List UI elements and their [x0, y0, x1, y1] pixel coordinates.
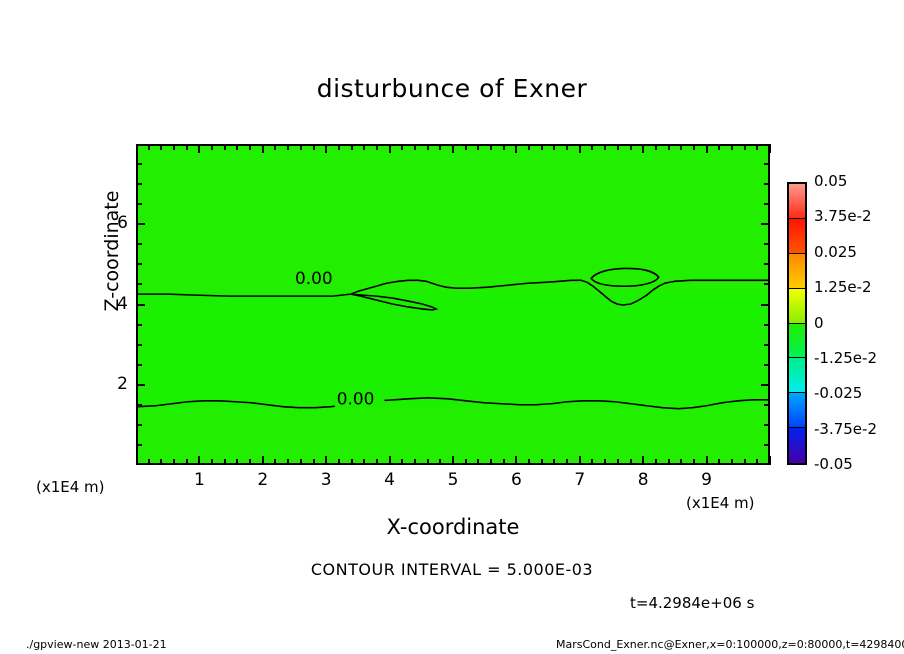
x-minor-tick-top — [591, 144, 593, 150]
colorbar-tick-label: 0.05 — [814, 172, 847, 190]
x-major-tick — [769, 456, 771, 465]
x-minor-tick-top — [528, 144, 530, 150]
x-minor-tick-top — [439, 144, 441, 150]
x-minor-tick-top — [630, 144, 632, 150]
y-minor-tick-right — [764, 364, 770, 366]
y-minor-tick-right — [764, 243, 770, 245]
y-minor-tick — [136, 404, 142, 406]
x-minor-tick — [465, 459, 467, 465]
plot-area: 0.00 0.00 — [136, 144, 770, 465]
y-minor-tick — [136, 364, 142, 366]
x-minor-tick-top — [731, 144, 733, 150]
colorbar-tick-label: -3.75e-2 — [814, 420, 877, 438]
colorbar-band — [789, 219, 805, 254]
y-minor-tick-right — [764, 404, 770, 406]
y-minor-tick-right — [764, 183, 770, 185]
x-minor-tick-top — [401, 144, 403, 150]
x-tick-label: 4 — [375, 470, 405, 490]
x-minor-tick — [148, 459, 150, 465]
y-tick-label: 2 — [98, 374, 128, 394]
x-minor-tick — [287, 459, 289, 465]
x-minor-tick-top — [148, 144, 150, 150]
colorbar-tick-label: -0.025 — [814, 384, 862, 402]
x-minor-tick — [604, 459, 606, 465]
x-minor-tick — [363, 459, 365, 465]
x-minor-tick-top — [160, 144, 162, 150]
x-minor-tick-top — [566, 144, 568, 150]
y-major-tick — [136, 223, 145, 225]
x-tick-label: 2 — [248, 470, 278, 490]
x-minor-tick — [591, 459, 593, 465]
x-minor-tick-top — [756, 144, 758, 150]
x-unit-left: (x1E4 m) — [36, 478, 105, 496]
y-minor-tick — [136, 424, 142, 426]
x-major-tick-top — [769, 144, 771, 153]
y-minor-tick-right — [764, 344, 770, 346]
x-minor-tick — [630, 459, 632, 465]
x-minor-tick-top — [668, 144, 670, 150]
y-major-tick-right — [761, 304, 770, 306]
x-major-tick — [452, 456, 454, 465]
x-minor-tick-top — [224, 144, 226, 150]
x-minor-tick-top — [287, 144, 289, 150]
colorbar-band — [789, 184, 805, 219]
x-major-tick-top — [579, 144, 581, 153]
x-major-tick-top — [325, 144, 327, 153]
x-minor-tick — [376, 459, 378, 465]
x-minor-tick-top — [414, 144, 416, 150]
x-minor-tick — [477, 459, 479, 465]
x-tick-label: 7 — [565, 470, 595, 490]
x-minor-tick-top — [477, 144, 479, 150]
y-minor-tick-right — [764, 283, 770, 285]
x-major-tick — [389, 456, 391, 465]
x-minor-tick — [617, 459, 619, 465]
x-minor-tick — [528, 459, 530, 465]
x-minor-tick-top — [300, 144, 302, 150]
y-minor-tick-right — [764, 444, 770, 446]
x-minor-tick-top — [693, 144, 695, 150]
x-minor-tick — [236, 459, 238, 465]
x-minor-tick — [414, 459, 416, 465]
footer-command: ./gpview-new 2013-01-21 — [26, 638, 167, 651]
x-minor-tick — [173, 459, 175, 465]
y-minor-tick-right — [764, 163, 770, 165]
x-minor-tick — [668, 459, 670, 465]
x-major-tick — [515, 456, 517, 465]
x-minor-tick — [693, 459, 695, 465]
x-tick-label: 3 — [311, 470, 341, 490]
contour-label-lower: 0.00 — [337, 389, 375, 409]
colorbar-band — [789, 393, 805, 428]
y-minor-tick — [136, 263, 142, 265]
x-minor-tick — [566, 459, 568, 465]
y-minor-tick — [136, 163, 142, 165]
y-axis-label: Z-coordinate — [101, 131, 123, 371]
colorbar-tick-label: 0.025 — [814, 243, 857, 261]
x-minor-tick — [224, 459, 226, 465]
y-minor-tick — [136, 243, 142, 245]
colorbar-tick-label: 3.75e-2 — [814, 207, 872, 225]
colorbar-band — [789, 428, 805, 463]
x-tick-label: 1 — [184, 470, 214, 490]
x-minor-tick — [160, 459, 162, 465]
x-minor-tick — [427, 459, 429, 465]
colorbar-band — [789, 324, 805, 359]
y-major-tick-right — [761, 223, 770, 225]
colorbar-tick-label: -0.05 — [814, 455, 853, 473]
x-major-tick-top — [452, 144, 454, 153]
x-major-tick-top — [642, 144, 644, 153]
x-major-tick-top — [706, 144, 708, 153]
x-tick-label: 8 — [628, 470, 658, 490]
x-minor-tick — [744, 459, 746, 465]
x-major-tick-top — [515, 144, 517, 153]
colorbar[interactable] — [787, 182, 807, 465]
y-minor-tick-right — [764, 424, 770, 426]
x-major-tick — [262, 456, 264, 465]
footer-source: MarsCond_Exner.nc@Exner,x=0:100000,z=0:8… — [556, 638, 904, 651]
x-minor-tick-top — [351, 144, 353, 150]
x-major-tick — [706, 456, 708, 465]
x-minor-tick-top — [236, 144, 238, 150]
x-major-tick — [579, 456, 581, 465]
y-minor-tick — [136, 183, 142, 185]
x-minor-tick — [655, 459, 657, 465]
x-minor-tick-top — [655, 144, 657, 150]
x-major-tick — [325, 456, 327, 465]
colorbar-band — [789, 254, 805, 289]
x-major-tick — [198, 456, 200, 465]
x-tick-label: 6 — [501, 470, 531, 490]
x-minor-tick — [541, 459, 543, 465]
x-minor-tick-top — [313, 144, 315, 150]
x-minor-tick-top — [617, 144, 619, 150]
colorbar-tick-label: -1.25e-2 — [814, 349, 877, 367]
contour-field: 0.00 0.00 — [138, 146, 768, 463]
contour-interval-note: CONTOUR INTERVAL = 5.000E-03 — [0, 560, 904, 579]
x-tick-label: 9 — [692, 470, 722, 490]
y-minor-tick — [136, 444, 142, 446]
x-tick-label: 5 — [438, 470, 468, 490]
colorbar-tick-label: 0 — [814, 314, 824, 332]
colorbar-band — [789, 289, 805, 324]
x-minor-tick — [731, 459, 733, 465]
y-minor-tick — [136, 324, 142, 326]
x-minor-tick — [300, 459, 302, 465]
y-minor-tick — [136, 344, 142, 346]
y-major-tick-right — [761, 384, 770, 386]
x-minor-tick — [338, 459, 340, 465]
x-minor-tick-top — [249, 144, 251, 150]
x-major-tick-top — [262, 144, 264, 153]
x-minor-tick-top — [490, 144, 492, 150]
colorbar-band — [789, 358, 805, 393]
x-minor-tick — [503, 459, 505, 465]
x-major-tick — [642, 456, 644, 465]
x-minor-tick-top — [211, 144, 213, 150]
x-major-tick-top — [389, 144, 391, 153]
x-minor-tick — [718, 459, 720, 465]
field-fill-lower — [138, 405, 768, 463]
colorbar-tick-label: 1.25e-2 — [814, 278, 872, 296]
x-minor-tick-top — [503, 144, 505, 150]
x-minor-tick — [186, 459, 188, 465]
y-minor-tick — [136, 283, 142, 285]
x-major-tick-top — [198, 144, 200, 153]
y-major-tick — [136, 384, 145, 386]
x-minor-tick-top — [553, 144, 555, 150]
x-minor-tick — [756, 459, 758, 465]
x-minor-tick — [249, 459, 251, 465]
x-minor-tick-top — [427, 144, 429, 150]
x-minor-tick — [351, 459, 353, 465]
x-minor-tick-top — [744, 144, 746, 150]
time-stamp: t=4.2984e+06 s — [630, 594, 754, 612]
x-minor-tick — [553, 459, 555, 465]
x-minor-tick — [274, 459, 276, 465]
x-minor-tick-top — [541, 144, 543, 150]
x-minor-tick-top — [186, 144, 188, 150]
y-minor-tick-right — [764, 324, 770, 326]
chart-title: disturbunce of Exner — [0, 74, 904, 103]
y-major-tick — [136, 304, 145, 306]
x-unit-right: (x1E4 m) — [686, 494, 755, 512]
y-minor-tick-right — [764, 203, 770, 205]
x-minor-tick-top — [363, 144, 365, 150]
x-minor-tick — [439, 459, 441, 465]
x-minor-tick — [680, 459, 682, 465]
x-minor-tick-top — [680, 144, 682, 150]
x-minor-tick-top — [604, 144, 606, 150]
x-minor-tick-top — [465, 144, 467, 150]
contour-label-upper: 0.00 — [295, 268, 333, 288]
x-minor-tick-top — [376, 144, 378, 150]
x-minor-tick — [313, 459, 315, 465]
x-minor-tick — [401, 459, 403, 465]
x-minor-tick — [490, 459, 492, 465]
x-minor-tick-top — [338, 144, 340, 150]
x-minor-tick-top — [173, 144, 175, 150]
x-axis-label: X-coordinate — [136, 515, 770, 539]
y-minor-tick-right — [764, 263, 770, 265]
y-minor-tick — [136, 203, 142, 205]
x-minor-tick-top — [274, 144, 276, 150]
x-minor-tick — [211, 459, 213, 465]
x-minor-tick-top — [718, 144, 720, 150]
